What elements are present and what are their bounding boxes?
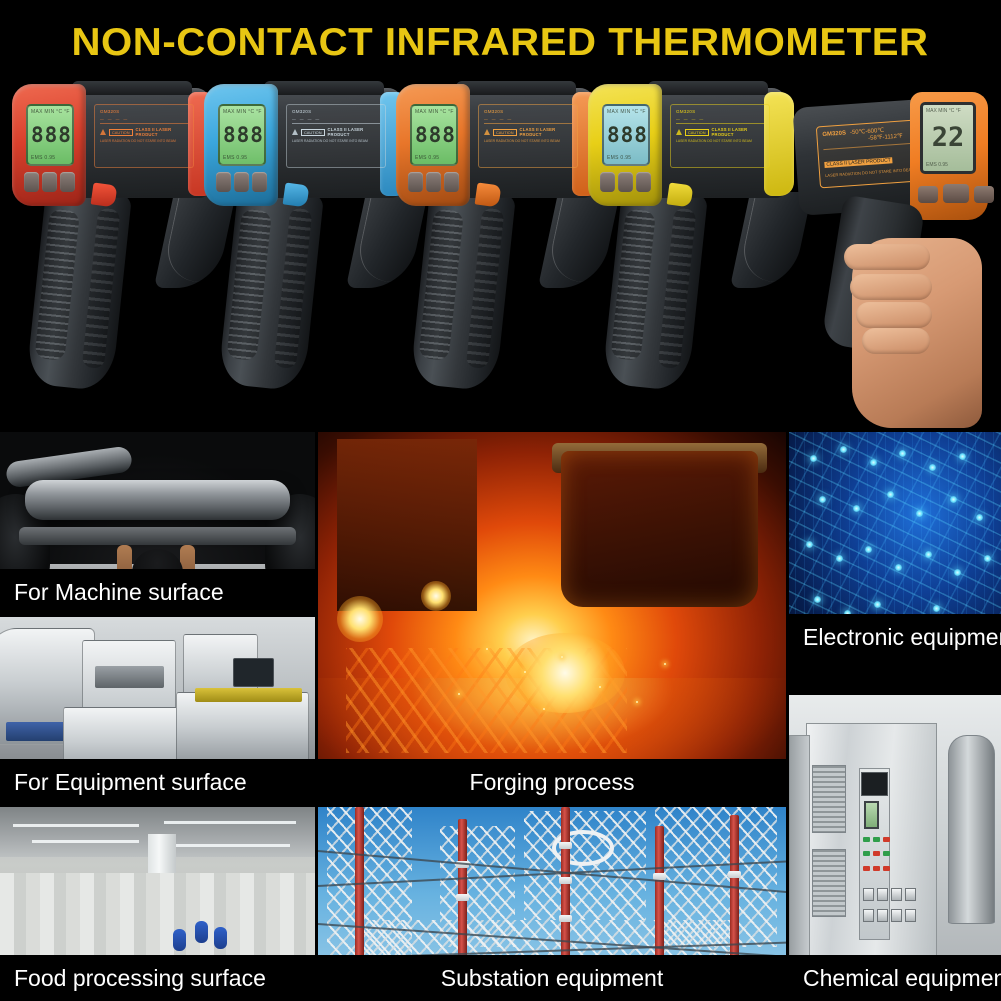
mode-button[interactable] (918, 186, 938, 203)
hand-unit-button-row[interactable] (918, 184, 994, 203)
gallery-cell-substation: Substation equipment (318, 807, 786, 1001)
hand-unit-lcd: MAX MIN °C °F 22 EMS 0.95 (920, 102, 976, 174)
unit-toggle-button[interactable] (618, 172, 633, 192)
page-title: NON-CONTACT INFRARED THERMOMETER (72, 21, 929, 65)
product-lineup: MAX MIN °C °F 888 EMS 0.95 GM320S ———— C… (0, 80, 1001, 432)
body-yellow: MAX MIN °C °F 888 EMS 0.95 GM320S ———— C… (590, 88, 786, 198)
button-row-yellow[interactable] (600, 172, 651, 192)
lcd-value: 888 (31, 125, 69, 145)
body-blue: MAX MIN °C °F 888 EMS 0.95 GM320S ———— C… (206, 88, 402, 198)
top-strip-red (72, 81, 192, 95)
button-row-red[interactable] (24, 172, 75, 192)
caption-machine-surface: For Machine surface (0, 569, 315, 615)
lcd-value: 888 (415, 125, 453, 145)
caution-badge: CAUTION (301, 129, 325, 136)
button-row-blue[interactable] (216, 172, 267, 192)
label-divider (676, 123, 764, 124)
label-warning-row: CAUTION CLASS II LASER PRODUCT (484, 127, 572, 137)
set-button[interactable] (444, 172, 459, 192)
lcd-value: 22 (926, 125, 970, 151)
label-fine-print: LASER RADIATION DO NOT STARE INTO BEAM (100, 139, 188, 144)
lcd-value: 888 (223, 125, 261, 145)
warning-triangle-icon (100, 129, 106, 135)
gallery-cell-food-processing: Food processing surface (0, 807, 315, 1001)
label-spec-grid: ———— (484, 117, 572, 121)
lcd-indicators-bottom: EMS 0.95 (31, 155, 69, 161)
label-spec-grid: ———— (292, 117, 380, 121)
lcd-yellow: MAX MIN °C °F 888 EMS 0.95 (602, 104, 650, 166)
unit-toggle-button[interactable] (234, 172, 249, 192)
mode-button[interactable] (24, 172, 39, 192)
finger-index (844, 244, 930, 270)
set-button[interactable] (252, 172, 267, 192)
caution-badge: CAUTION (493, 129, 517, 136)
label-model: GM320S (292, 109, 380, 114)
lcd-indicators-bottom: EMS 0.95 (607, 155, 645, 161)
warning-label-red: GM320S ———— CAUTION CLASS II LASER PRODU… (94, 104, 194, 168)
mode-button[interactable] (408, 172, 423, 192)
finger-little (862, 328, 930, 354)
warning-triangle-icon (676, 129, 682, 135)
caption-food-processing: Food processing surface (0, 955, 315, 1001)
lcd-orange: MAX MIN °C °F 888 EMS 0.95 (410, 104, 458, 166)
top-strip-yellow (648, 81, 768, 95)
label-warning-row: CAUTION CLASS II LASER PRODUCT (100, 127, 188, 137)
lcd-indicators-top: MAX MIN °C °F (31, 109, 69, 115)
label-divider (100, 123, 188, 124)
label-fine-print: LASER RADIATION DO NOT STARE INTO BEAM (292, 139, 380, 144)
label-fine-print: LASER RADIATION DO NOT STARE INTO BEAM (676, 139, 764, 144)
caption-equipment-surface: For Equipment surface (0, 759, 315, 805)
title-banner: NON-CONTACT INFRARED THERMOMETER (0, 0, 1001, 86)
finger-middle (850, 274, 932, 300)
gallery-cell-equipment-surface: For Equipment surface (0, 617, 315, 805)
warning-label-orange: GM320S ———— CAUTION CLASS II LASER PRODU… (478, 104, 578, 168)
product-marketing-image: NON-CONTACT INFRARED THERMOMETER MAX MIN… (0, 0, 1001, 1001)
lcd-indicators-top: MAX MIN °C °F (926, 108, 970, 114)
label-fine-print: LASER RADIATION DO NOT STARE INTO BEAM (484, 139, 572, 144)
lcd-blue: MAX MIN °C °F 888 EMS 0.95 (218, 104, 266, 166)
caution-badge: CAUTION (109, 129, 133, 136)
body-red: MAX MIN °C °F 888 EMS 0.95 GM320S ———— C… (14, 88, 210, 198)
label-warning-row: CAUTION CLASS II LASER PRODUCT (292, 127, 380, 137)
set-button[interactable] (60, 172, 75, 192)
unit-toggle-button[interactable] (42, 172, 57, 192)
label-spec-grid: ———— (100, 117, 188, 121)
mode-button[interactable] (600, 172, 615, 192)
spec-laser-class: CLASS II LASER PRODUCT (824, 157, 893, 168)
lcd-indicators-bottom: EMS 0.95 (926, 162, 970, 168)
gallery-cell-electronic: Electronic equipment (789, 432, 1001, 660)
caption-chemical: Chemical equipment (789, 955, 1001, 1001)
label-model: GM320S (100, 109, 188, 114)
label-spec-grid: ———— (676, 117, 764, 121)
gallery-cell-forging-process: Forging process (318, 432, 786, 805)
warning-triangle-icon (292, 129, 298, 135)
laser-class-text: CLASS II LASER PRODUCT (712, 127, 764, 137)
lcd-indicators-top: MAX MIN °C °F (607, 109, 645, 115)
top-strip-orange (456, 81, 576, 95)
laser-class-text: CLASS II LASER PRODUCT (328, 127, 380, 137)
body-orange: MAX MIN °C °F 888 EMS 0.95 GM320S ———— C… (398, 88, 594, 198)
laser-class-text: CLASS II LASER PRODUCT (136, 127, 188, 137)
label-model: GM320S (484, 109, 572, 114)
unit-toggle-button[interactable] (943, 184, 969, 203)
unit-toggle-button[interactable] (426, 172, 441, 192)
lcd-indicators-bottom: EMS 0.95 (223, 155, 261, 161)
lcd-red: MAX MIN °C °F 888 EMS 0.95 (26, 104, 74, 166)
warning-triangle-icon (484, 129, 490, 135)
lcd-indicators-top: MAX MIN °C °F (223, 109, 261, 115)
label-divider (292, 123, 380, 124)
label-divider (484, 123, 572, 124)
caption-forging-process: Forging process (318, 759, 786, 805)
warning-label-yellow: GM320S ———— CAUTION CLASS II LASER PRODU… (670, 104, 770, 168)
button-row-orange[interactable] (408, 172, 459, 192)
set-button[interactable] (974, 186, 994, 203)
label-warning-row: CAUTION CLASS II LASER PRODUCT (676, 127, 764, 137)
mode-button[interactable] (216, 172, 231, 192)
lcd-value: 888 (607, 125, 645, 145)
application-gallery: For Machine surface For Equipment surfac… (0, 432, 1001, 1001)
top-strip-blue (264, 81, 384, 95)
laser-class-text: CLASS II LASER PRODUCT (520, 127, 572, 137)
photo-forging-process (318, 432, 786, 805)
orange-thermometer-in-hand[interactable]: GM320S -50℃-600℃ -58℉-1112℉ CLASS II LAS… (792, 88, 1001, 432)
warning-label-blue: GM320S ———— CAUTION CLASS II LASER PRODU… (286, 104, 386, 168)
lcd-indicators-bottom: EMS 0.95 (415, 155, 453, 161)
lcd-indicators-top: MAX MIN °C °F (415, 109, 453, 115)
caution-badge: CAUTION (685, 129, 709, 136)
gallery-cell-machine-surface: For Machine surface (0, 432, 315, 615)
set-button[interactable] (636, 172, 651, 192)
grip-red (26, 184, 132, 392)
spec-fine-print: LASER RADIATION DO NOT STARE INTO BEAM (825, 166, 919, 178)
label-model: GM320S (676, 109, 764, 114)
finger-ring (856, 302, 932, 328)
caption-electronic: Electronic equipment (789, 614, 1001, 660)
caption-substation: Substation equipment (318, 955, 786, 1001)
gallery-cell-chemical: Chemical equipment (789, 695, 1001, 1001)
